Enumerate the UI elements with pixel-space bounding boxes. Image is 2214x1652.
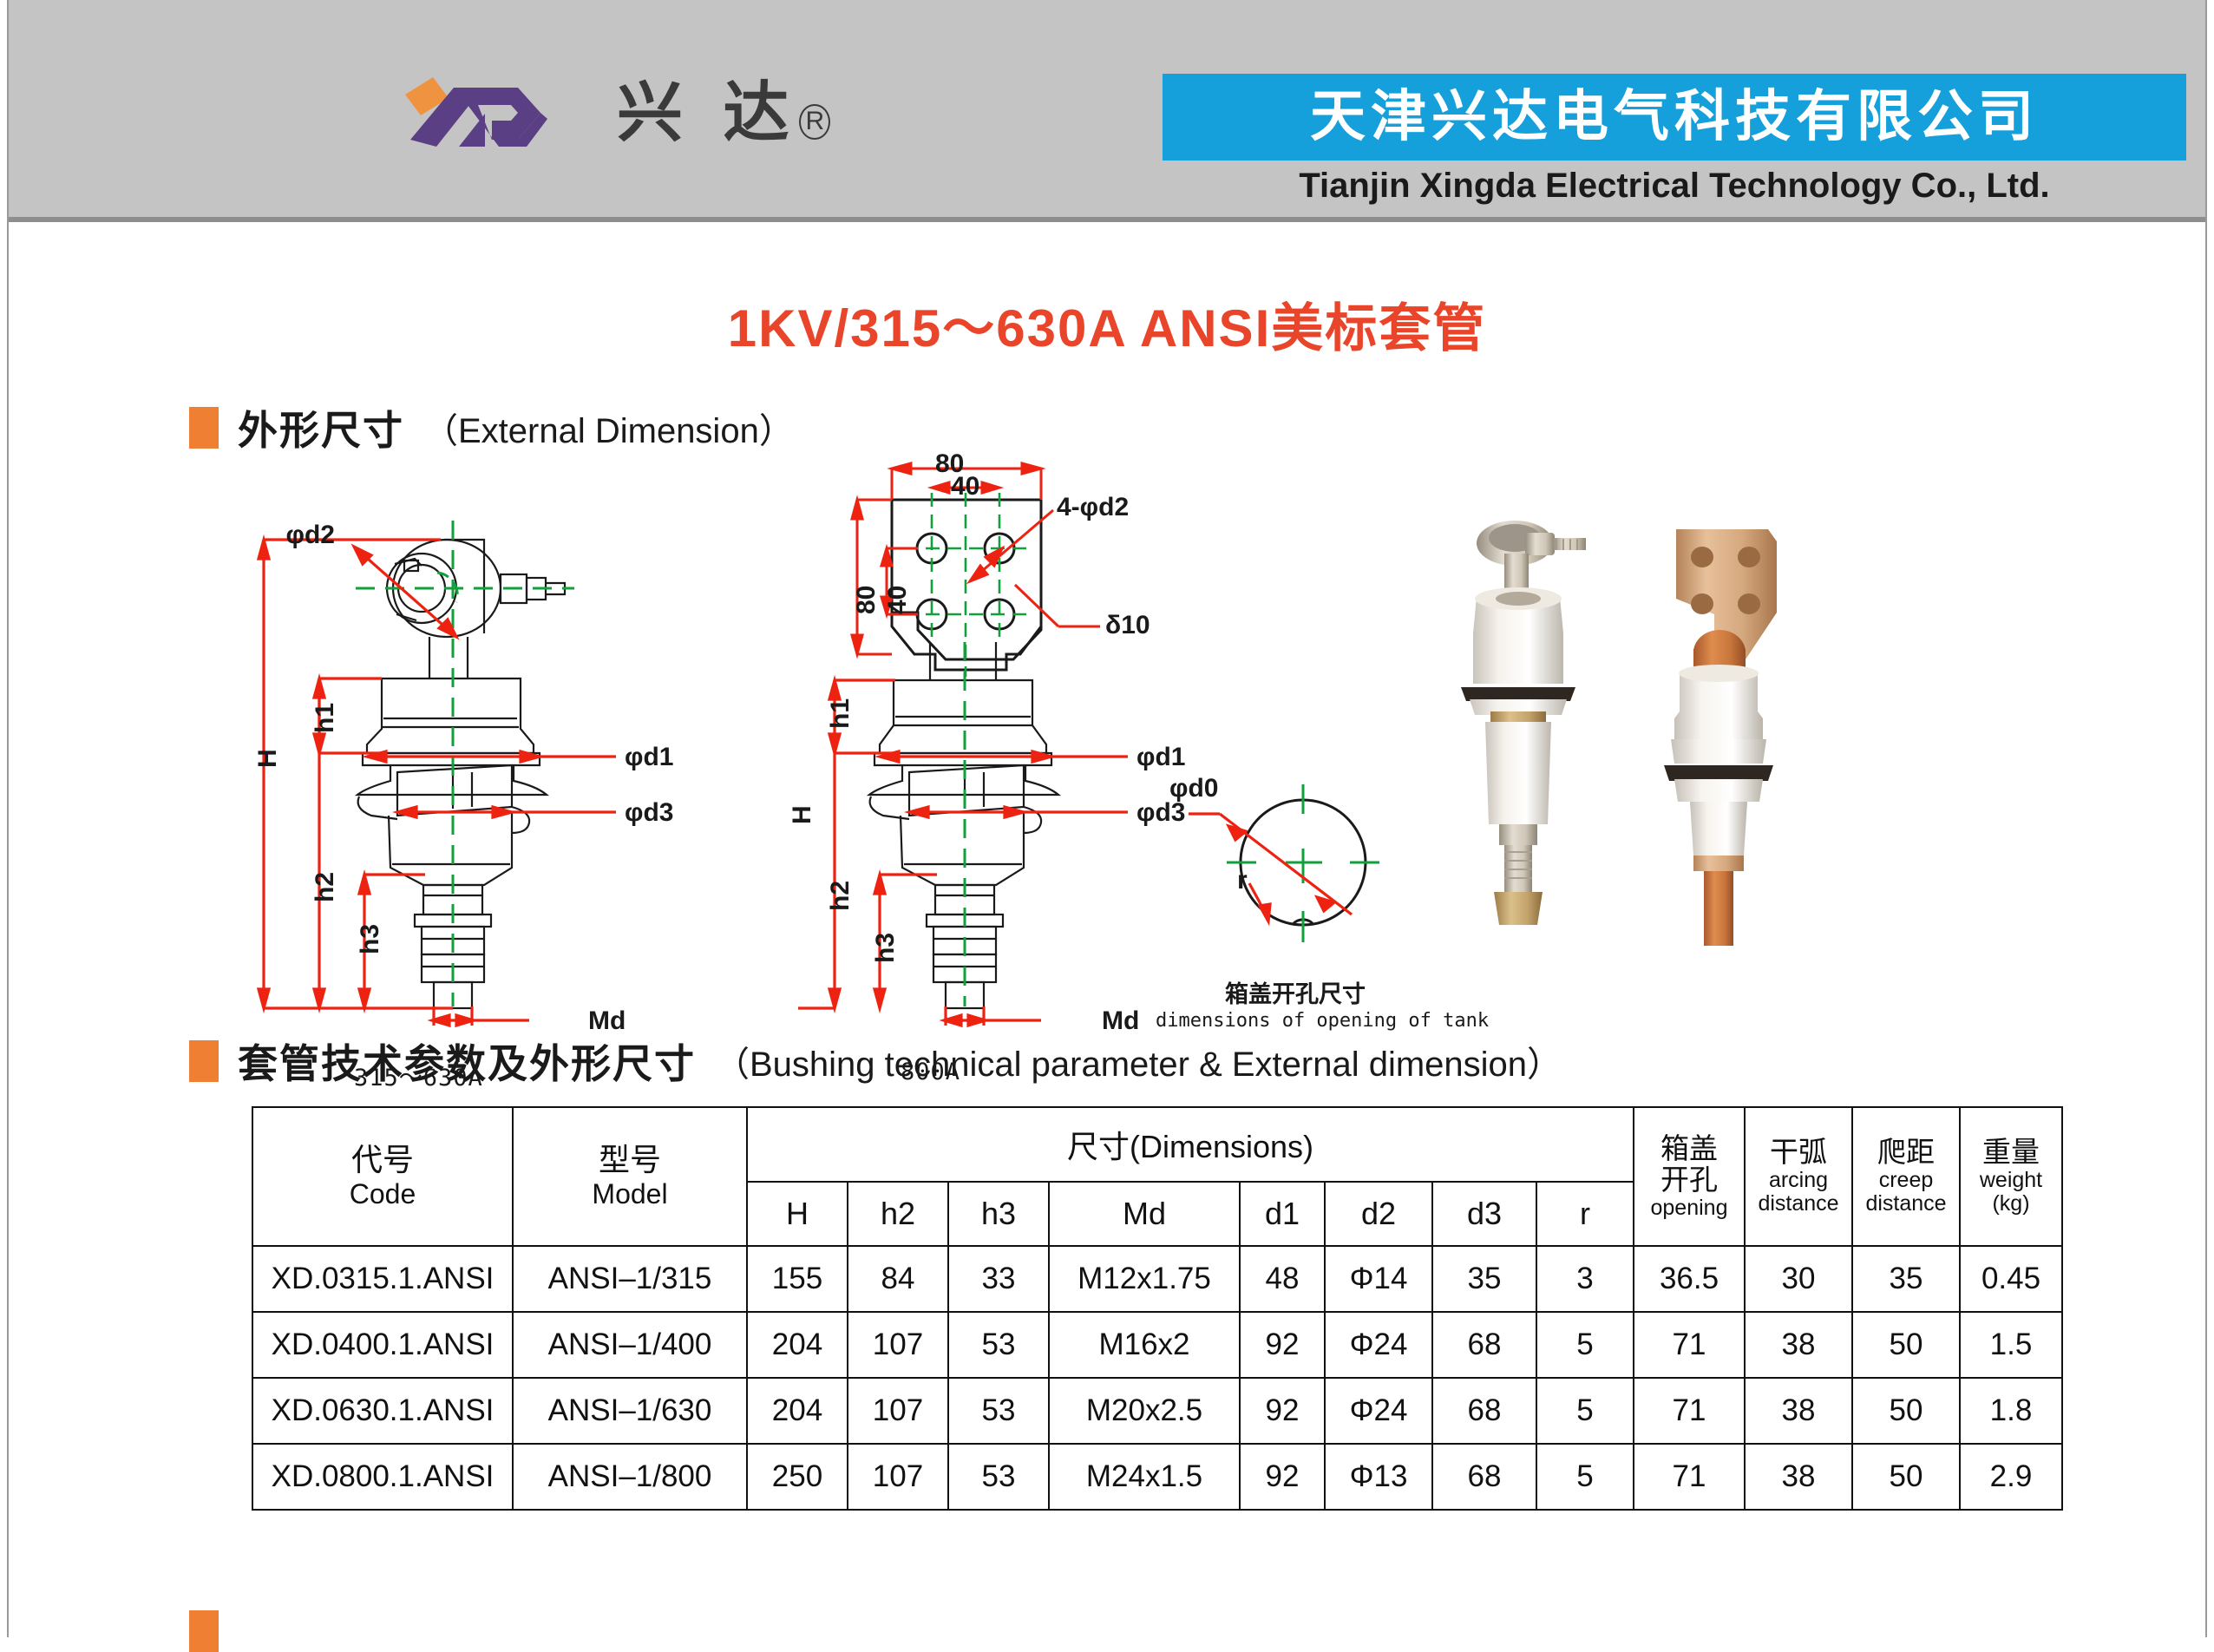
section-title-en: （External Dimension）	[423, 403, 794, 453]
dim-label-Md-left: Md	[588, 1006, 626, 1036]
header-creep-distance: 爬距 creep distance	[1852, 1107, 1960, 1246]
dim-label-top-hole-spacing-x: 40	[951, 472, 979, 501]
centerline	[356, 521, 574, 1006]
table-row: XD.0800.1.ANSI ANSI–1/800 250 107 53 M24…	[252, 1444, 2062, 1510]
dim-label-top-outer-height: 80	[852, 586, 881, 614]
subheader-d2: d2	[1325, 1182, 1432, 1246]
page-border-left	[7, 0, 9, 1637]
product-photo-bushing-clamp	[1431, 503, 1657, 954]
company-name-banner: 天津兴达电气科技有限公司	[1163, 74, 2186, 161]
tank-opening-caption-en: dimensions of opening of tank	[1156, 1010, 1489, 1032]
header-dimensions-group: 尺寸(Dimensions)	[747, 1107, 1634, 1182]
drawing-315-630a: φd2	[252, 521, 737, 1059]
next-section-bullet-icon	[189, 1610, 219, 1652]
header-model: 型号 Model	[513, 1107, 747, 1246]
technical-drawings-area: φd2 H h1 h2 h3 φd1 φd3 Md 315～630A	[200, 451, 2195, 1024]
subheader-h3: h3	[948, 1182, 1049, 1246]
dim-label-h3-middle: h3	[871, 933, 901, 963]
dim-label-H-middle: H	[788, 805, 817, 824]
header-code: 代号 Code	[252, 1107, 513, 1246]
drawing-tank-opening	[1163, 772, 1440, 980]
dim-label-h1-left: h1	[311, 703, 340, 733]
spec-table: 代号 Code 型号 Model 尺寸(Dimensions) 箱盖 开孔 op…	[252, 1106, 2063, 1511]
dim-label-d1-middle: φd1	[1136, 743, 1185, 772]
section-title-cn: 外形尺寸	[238, 399, 404, 456]
dim-label-h2-middle: h2	[826, 881, 855, 911]
svg-text:φd2: φd2	[286, 521, 335, 549]
dim-label-thickness-note: δ10	[1105, 611, 1150, 640]
table-row: XD.0630.1.ANSI ANSI–1/630 204 107 53 M20…	[252, 1378, 2062, 1444]
table-row: XD.0315.1.ANSI ANSI–1/315 155 84 33 M12x…	[252, 1246, 2062, 1312]
subheader-d1: d1	[1240, 1182, 1325, 1246]
section-heading-technical-parameter: 套管技术参数及外形尺寸 （Bushing technical parameter…	[189, 1032, 1562, 1090]
registered-trademark-icon: R	[799, 104, 830, 140]
dim-label-h2-left: h2	[311, 872, 340, 902]
dim-label-r: r	[1237, 866, 1248, 895]
dim-label-h3-left: h3	[356, 924, 385, 954]
section-bullet-icon	[189, 407, 219, 449]
section-heading-external-dimension: 外形尺寸 （External Dimension）	[189, 399, 794, 456]
page-border-right	[2205, 0, 2207, 1637]
dim-label-d3-left: φd3	[625, 798, 673, 828]
product-photo-bushing-flag	[1640, 503, 1857, 954]
xd-logo-mark	[395, 65, 594, 161]
spec-table-wrapper: 代号 Code 型号 Model 尺寸(Dimensions) 箱盖 开孔 op…	[252, 1106, 2063, 1511]
dim-label-holes-note: 4-φd2	[1057, 493, 1129, 522]
logo-text: 兴 达	[617, 74, 797, 151]
company-logo: 兴 达R	[395, 62, 950, 162]
header-arcing-distance: 干弧 arcing distance	[1745, 1107, 1852, 1246]
subheader-Md: Md	[1049, 1182, 1240, 1246]
page-title: 1KV/315～630A ANSI美标套管	[0, 286, 2214, 362]
tank-opening-caption-cn: 箱盖开孔尺寸	[1225, 975, 1366, 1009]
table-row: XD.0400.1.ANSI ANSI–1/400 204 107 53 M16…	[252, 1312, 2062, 1378]
subheader-r: r	[1536, 1182, 1634, 1246]
table-body: XD.0315.1.ANSI ANSI–1/315 155 84 33 M12x…	[252, 1246, 2062, 1510]
header-underline	[9, 217, 2205, 222]
company-name-cn: 天津兴达电气科技有限公司	[1310, 89, 2039, 145]
section-title-cn-2: 套管技术参数及外形尺寸	[238, 1032, 696, 1090]
dim-label-d0: φd0	[1169, 774, 1218, 803]
header-opening: 箱盖 开孔 opening	[1634, 1107, 1745, 1246]
dim-label-h1-middle: h1	[826, 698, 855, 729]
company-name-en: Tianjin Xingda Electrical Technology Co.…	[1163, 167, 2186, 206]
subheader-h2: h2	[848, 1182, 948, 1246]
subheader-H: H	[747, 1182, 848, 1246]
dim-label-d1-left: φd1	[625, 743, 673, 772]
header-weight: 重量 weight (kg)	[1960, 1107, 2062, 1246]
section-title-en-2: （Bushing technical parameter & External …	[715, 1036, 1562, 1086]
datasheet-page: 兴 达R 天津兴达电气科技有限公司 Tianjin Xingda Electri…	[0, 0, 2214, 1637]
dim-label-H-left: H	[253, 749, 283, 768]
subheader-d3: d3	[1432, 1182, 1536, 1246]
dim-label-Md-middle: Md	[1102, 1006, 1139, 1036]
section-bullet-icon-2	[189, 1040, 219, 1082]
dim-label-top-hole-spacing-y: 40	[883, 586, 913, 614]
drawing-800a	[798, 642, 1197, 1059]
table-header-row-1: 代号 Code 型号 Model 尺寸(Dimensions) 箱盖 开孔 op…	[252, 1107, 2062, 1182]
